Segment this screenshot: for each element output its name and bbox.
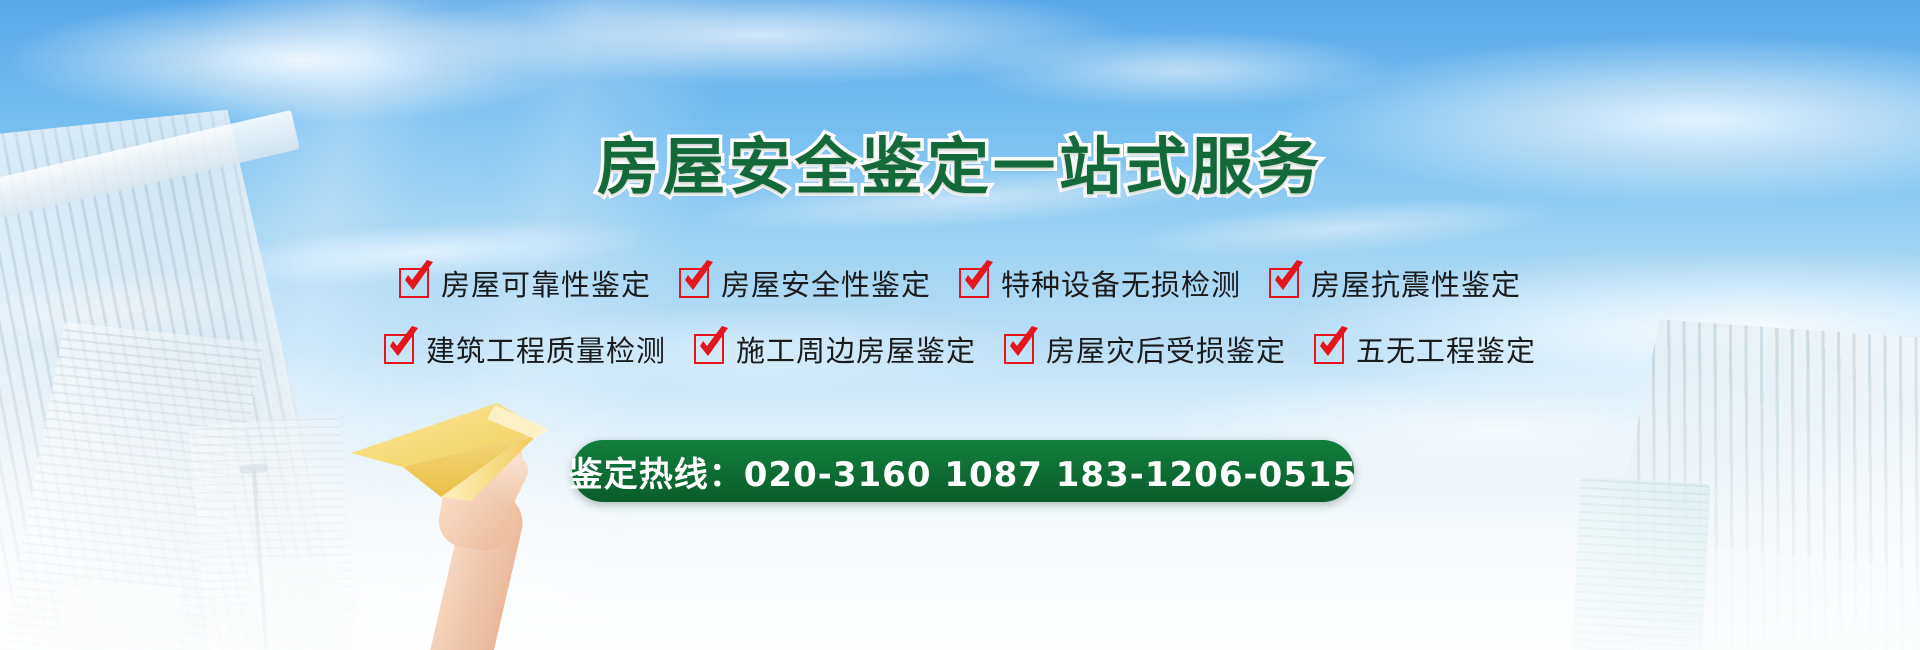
red-checkbox-icon: [679, 268, 709, 298]
red-checkbox-icon: [1314, 334, 1344, 364]
hero-banner: 房屋安全鉴定一站式服务 房屋可靠性鉴定 房屋安全性鉴定 特种设备无损检测: [0, 0, 1920, 650]
red-checkbox-icon: [694, 334, 724, 364]
hotline-pill[interactable]: 鉴定热线：020-3160 1087 183-1206-0515: [572, 440, 1354, 502]
service-label: 房屋安全性鉴定: [721, 262, 931, 304]
service-label: 房屋可靠性鉴定: [441, 262, 651, 304]
service-item-jianzhugongcheng[interactable]: 建筑工程质量检测: [384, 328, 666, 370]
service-label: 建筑工程质量检测: [426, 328, 666, 370]
service-label: 五无工程鉴定: [1356, 328, 1536, 370]
service-item-fangwukangzhen[interactable]: 房屋抗震性鉴定: [1269, 262, 1521, 304]
service-item-fangwuzaihou[interactable]: 房屋灾后受损鉴定: [1004, 328, 1286, 370]
service-item-wuwugongcheng[interactable]: 五无工程鉴定: [1314, 328, 1536, 370]
service-label: 施工周边房屋鉴定: [736, 328, 976, 370]
banner-title: 房屋安全鉴定一站式服务: [0, 116, 1920, 206]
red-checkbox-icon: [1004, 334, 1034, 364]
red-checkbox-icon: [384, 334, 414, 364]
red-checkbox-icon: [399, 268, 429, 298]
service-item-teshongshebei[interactable]: 特种设备无损检测: [959, 262, 1241, 304]
service-item-fangwukekaoxing[interactable]: 房屋可靠性鉴定: [399, 262, 651, 304]
service-row-2: 建筑工程质量检测 施工周边房屋鉴定 房屋灾后受损鉴定 五无工程鉴定: [0, 316, 1920, 382]
service-label: 房屋灾后受损鉴定: [1046, 328, 1286, 370]
red-checkbox-icon: [959, 268, 989, 298]
service-item-shigongzhoubian[interactable]: 施工周边房屋鉴定: [694, 328, 976, 370]
service-label: 特种设备无损检测: [1001, 262, 1241, 304]
service-label: 房屋抗震性鉴定: [1311, 262, 1521, 304]
service-list: 房屋可靠性鉴定 房屋安全性鉴定 特种设备无损检测 房屋抗震性鉴定: [0, 250, 1920, 382]
hotline-text: 鉴定热线：020-3160 1087 183-1206-0515: [569, 447, 1357, 496]
red-checkbox-icon: [1269, 268, 1299, 298]
service-row-1: 房屋可靠性鉴定 房屋安全性鉴定 特种设备无损检测 房屋抗震性鉴定: [0, 250, 1920, 316]
service-item-fangwuanquanxing[interactable]: 房屋安全性鉴定: [679, 262, 931, 304]
